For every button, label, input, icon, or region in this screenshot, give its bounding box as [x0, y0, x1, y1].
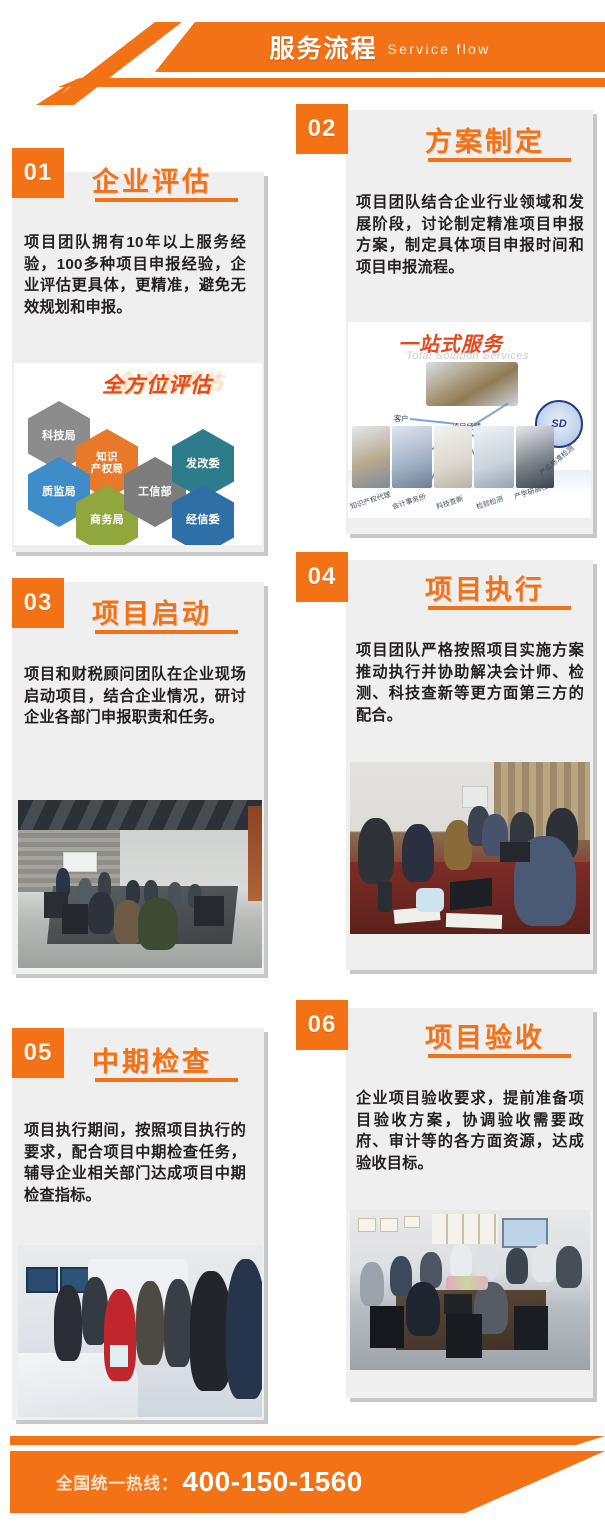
step-number-badge-04: 04: [296, 552, 348, 602]
branch-thumb-2: [392, 426, 432, 488]
photo-ac-unit: [462, 786, 488, 808]
photo-chair: [514, 1306, 548, 1350]
step-number-badge-01: 01: [12, 148, 64, 198]
photo-thermos: [378, 882, 392, 912]
photo-person: [476, 1246, 498, 1280]
photo-chair: [370, 1306, 404, 1348]
step-title-rule-06: [428, 1054, 571, 1058]
photo-person: [358, 818, 394, 884]
photo-papers: [446, 913, 502, 929]
photo-chair: [62, 904, 88, 934]
branch-thumb-5: [516, 426, 554, 488]
hexagon-assessment-diagram: 全方位评估 全方位评估 科技局 知识产权局 质监局 商务局 工信部 发改委 经信…: [14, 363, 262, 545]
photo-person-foreground: [88, 892, 114, 934]
step-description-06: 企业项目验收要求，提前准备项目验收方案，协调验收需要政府、审计等的各方面资源，达…: [356, 1088, 584, 1174]
branch-label-2: 会计事务所: [391, 492, 427, 512]
step-title-rule-01: [95, 198, 238, 202]
photo-person-foreground: [226, 1259, 262, 1399]
photo-person: [450, 1244, 472, 1278]
arrow-1: [410, 418, 454, 425]
step-description-03: 项目和财税顾问团队在企业现场启动项目，结合企业情况，研讨企业各部门申报职责和任务…: [24, 664, 246, 729]
photo-chair: [446, 1314, 482, 1358]
page-header: 服务流程 Service flow: [0, 0, 605, 105]
photo-whiteboard: [63, 852, 97, 872]
conference-room-photo: [18, 800, 262, 968]
photo-flowers: [446, 1276, 488, 1290]
meeting-laptops-photo: [350, 762, 590, 934]
photo-person: [164, 1279, 192, 1367]
one-stop-service-diagram: 一站式服务 Total Solution Services 客户 项目经理 SD…: [348, 322, 591, 518]
step-number-badge-05: 05: [12, 1028, 64, 1078]
photo-person: [506, 1248, 528, 1284]
step-title-04: 项目执行: [425, 568, 545, 607]
step-title-rule-02: [428, 158, 571, 162]
step-description-04: 项目团队严格按照项目实施方案推动执行并协助解决会计师、检测、科技查新等更方面第三…: [356, 640, 584, 726]
photo-person-foreground: [406, 1282, 440, 1336]
photo-person: [360, 1262, 384, 1306]
photo-laptop: [444, 1294, 472, 1314]
photo-bag: [416, 888, 444, 912]
site-visit-photo: [18, 1245, 262, 1417]
photo-laptop: [450, 878, 492, 910]
step-title-02: 方案制定: [425, 120, 545, 159]
photo-certificate-frame: [380, 1218, 398, 1232]
footer-hotline-group: 全国统一热线： 400-150-1560: [56, 1451, 363, 1513]
header-underline-bar: [58, 78, 605, 87]
step-title-rule-05: [95, 1078, 238, 1082]
photo-certificate-frame: [358, 1218, 376, 1232]
photo-display-screen: [26, 1267, 58, 1293]
branch-thumb-3: [434, 426, 472, 488]
branch-label-4: 检验检测: [475, 494, 505, 512]
step-title-01: 企业评估: [92, 160, 212, 199]
hotline-number[interactable]: 400-150-1560: [183, 1466, 363, 1498]
step-title-rule-03: [95, 630, 238, 634]
step-title-03: 项目启动: [92, 592, 212, 631]
photo-certificate-grid: [432, 1214, 498, 1244]
photo-person-foreground: [138, 898, 178, 950]
step-description-05: 项目执行期间，按照项目执行的要求，配合项目中期检查任务，辅导企业相关部门达成项目…: [24, 1120, 246, 1206]
step-title-06: 项目验收: [425, 1016, 545, 1055]
photo-person: [556, 1246, 582, 1288]
acceptance-meeting-photo: [350, 1210, 590, 1370]
team-photo-thumb: [426, 362, 518, 406]
step-description-01: 项目团队拥有10年以上服务经验，100多种项目申报经验，企业评估更具体，更精准，…: [24, 232, 246, 318]
step-title-05: 中期检查: [92, 1040, 212, 1079]
photo-document: [110, 1345, 128, 1367]
step-description-02: 项目团队结合企业行业领域和发展阶段，讨论制定精准项目申报方案，制定具体项目申报时…: [356, 192, 584, 278]
step-number-badge-06: 06: [296, 1000, 348, 1050]
photo-person-red-coat: [104, 1289, 136, 1381]
page-footer: 全国统一热线： 400-150-1560: [0, 1398, 605, 1538]
node-label-customer: 客户: [394, 414, 408, 424]
page-title: 服务流程: [269, 29, 377, 65]
photo-ceiling-panel: [18, 800, 262, 830]
step-number-badge-03: 03: [12, 578, 64, 628]
photo-person: [532, 1244, 556, 1282]
branch-thumb-4: [474, 426, 514, 488]
photo-wood-column: [248, 806, 262, 901]
hexagon-title: 全方位评估: [102, 369, 252, 397]
photo-person: [54, 1285, 82, 1361]
step-number-badge-02: 02: [296, 104, 348, 154]
branch-label-3: 科技查新: [435, 494, 465, 512]
photo-laptop: [500, 842, 530, 862]
hotline-label: 全国统一热线：: [56, 1470, 179, 1494]
photo-person: [402, 824, 434, 882]
photo-certificate-frame: [404, 1216, 420, 1228]
photo-person: [136, 1281, 164, 1365]
one-stop-subtitle: Total Solution Services: [406, 350, 529, 362]
branch-thumb-1: [352, 426, 390, 488]
header-title-group: 服务流程 Service flow: [155, 22, 605, 72]
footer-thin-bar: [10, 1436, 605, 1445]
photo-chair: [194, 896, 224, 926]
page-subtitle: Service flow: [387, 37, 490, 57]
step-title-rule-04: [428, 606, 571, 610]
